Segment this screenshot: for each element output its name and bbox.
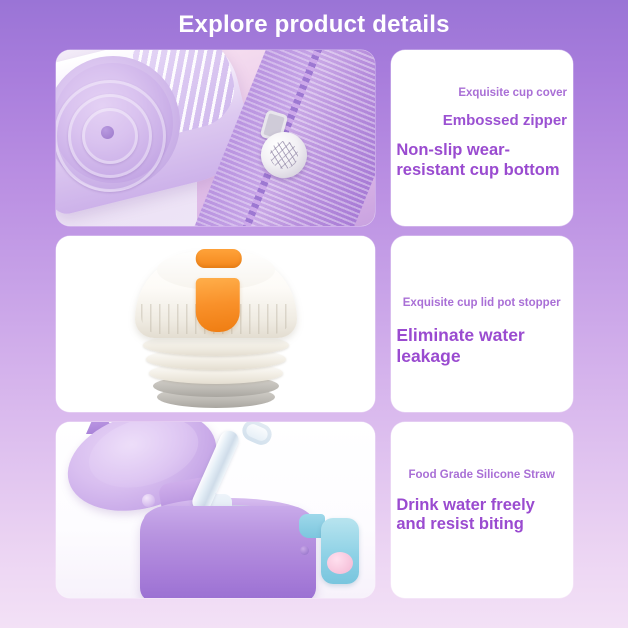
feature-line-1-1: Exquisite cup cover: [396, 86, 567, 102]
orange-top-button-icon: [195, 249, 241, 268]
product-image-card-3[interactable]: [56, 422, 375, 598]
lid-latch-icon: [321, 518, 359, 584]
page-title: Explore product details: [178, 11, 449, 39]
orange-side-button-icon: [195, 278, 239, 332]
detail-rows: Exquisite cup cover Embossed zipper Non-…: [0, 50, 628, 598]
feature-line-3-2: Drink water freely and resist biting: [396, 496, 567, 536]
cup-lid-stopper-photo: [56, 236, 375, 412]
feature-text-card-2: Exquisite cup lid pot stopper Eliminate …: [391, 236, 573, 412]
detail-row-1: Exquisite cup cover Embossed zipper Non-…: [56, 50, 573, 226]
feature-text-card-3: Food Grade Silicone Straw Drink water fr…: [391, 422, 573, 598]
product-detail-page: Explore product details: [0, 0, 628, 628]
feature-line-2-1: Exquisite cup lid pot stopper: [396, 296, 567, 312]
page-header: Explore product details: [0, 0, 628, 50]
feature-lines-2: Exquisite cup lid pot stopper Eliminate …: [391, 296, 573, 367]
silicone-straw-lid-photo: [56, 422, 375, 598]
feature-line-1-2: Embossed zipper: [396, 111, 567, 131]
feature-line-3-1: Food Grade Silicone Straw: [396, 468, 567, 484]
product-image-card-2[interactable]: [56, 236, 375, 412]
detail-row-3: Food Grade Silicone Straw Drink water fr…: [56, 422, 573, 598]
feature-text-card-1: Exquisite cup cover Embossed zipper Non-…: [391, 50, 573, 226]
product-image-card-1[interactable]: [56, 50, 375, 226]
feature-line-2-2: Eliminate water leakage: [396, 325, 567, 367]
feature-lines-1: Exquisite cup cover Embossed zipper Non-…: [391, 86, 573, 180]
bottle-bottom-zipper-photo: [56, 50, 375, 226]
feature-line-1-3: Non-slip wear-resistant cup bottom: [396, 141, 567, 181]
feature-lines-3: Food Grade Silicone Straw Drink water fr…: [391, 468, 573, 535]
detail-row-2: Exquisite cup lid pot stopper Eliminate …: [56, 236, 573, 412]
